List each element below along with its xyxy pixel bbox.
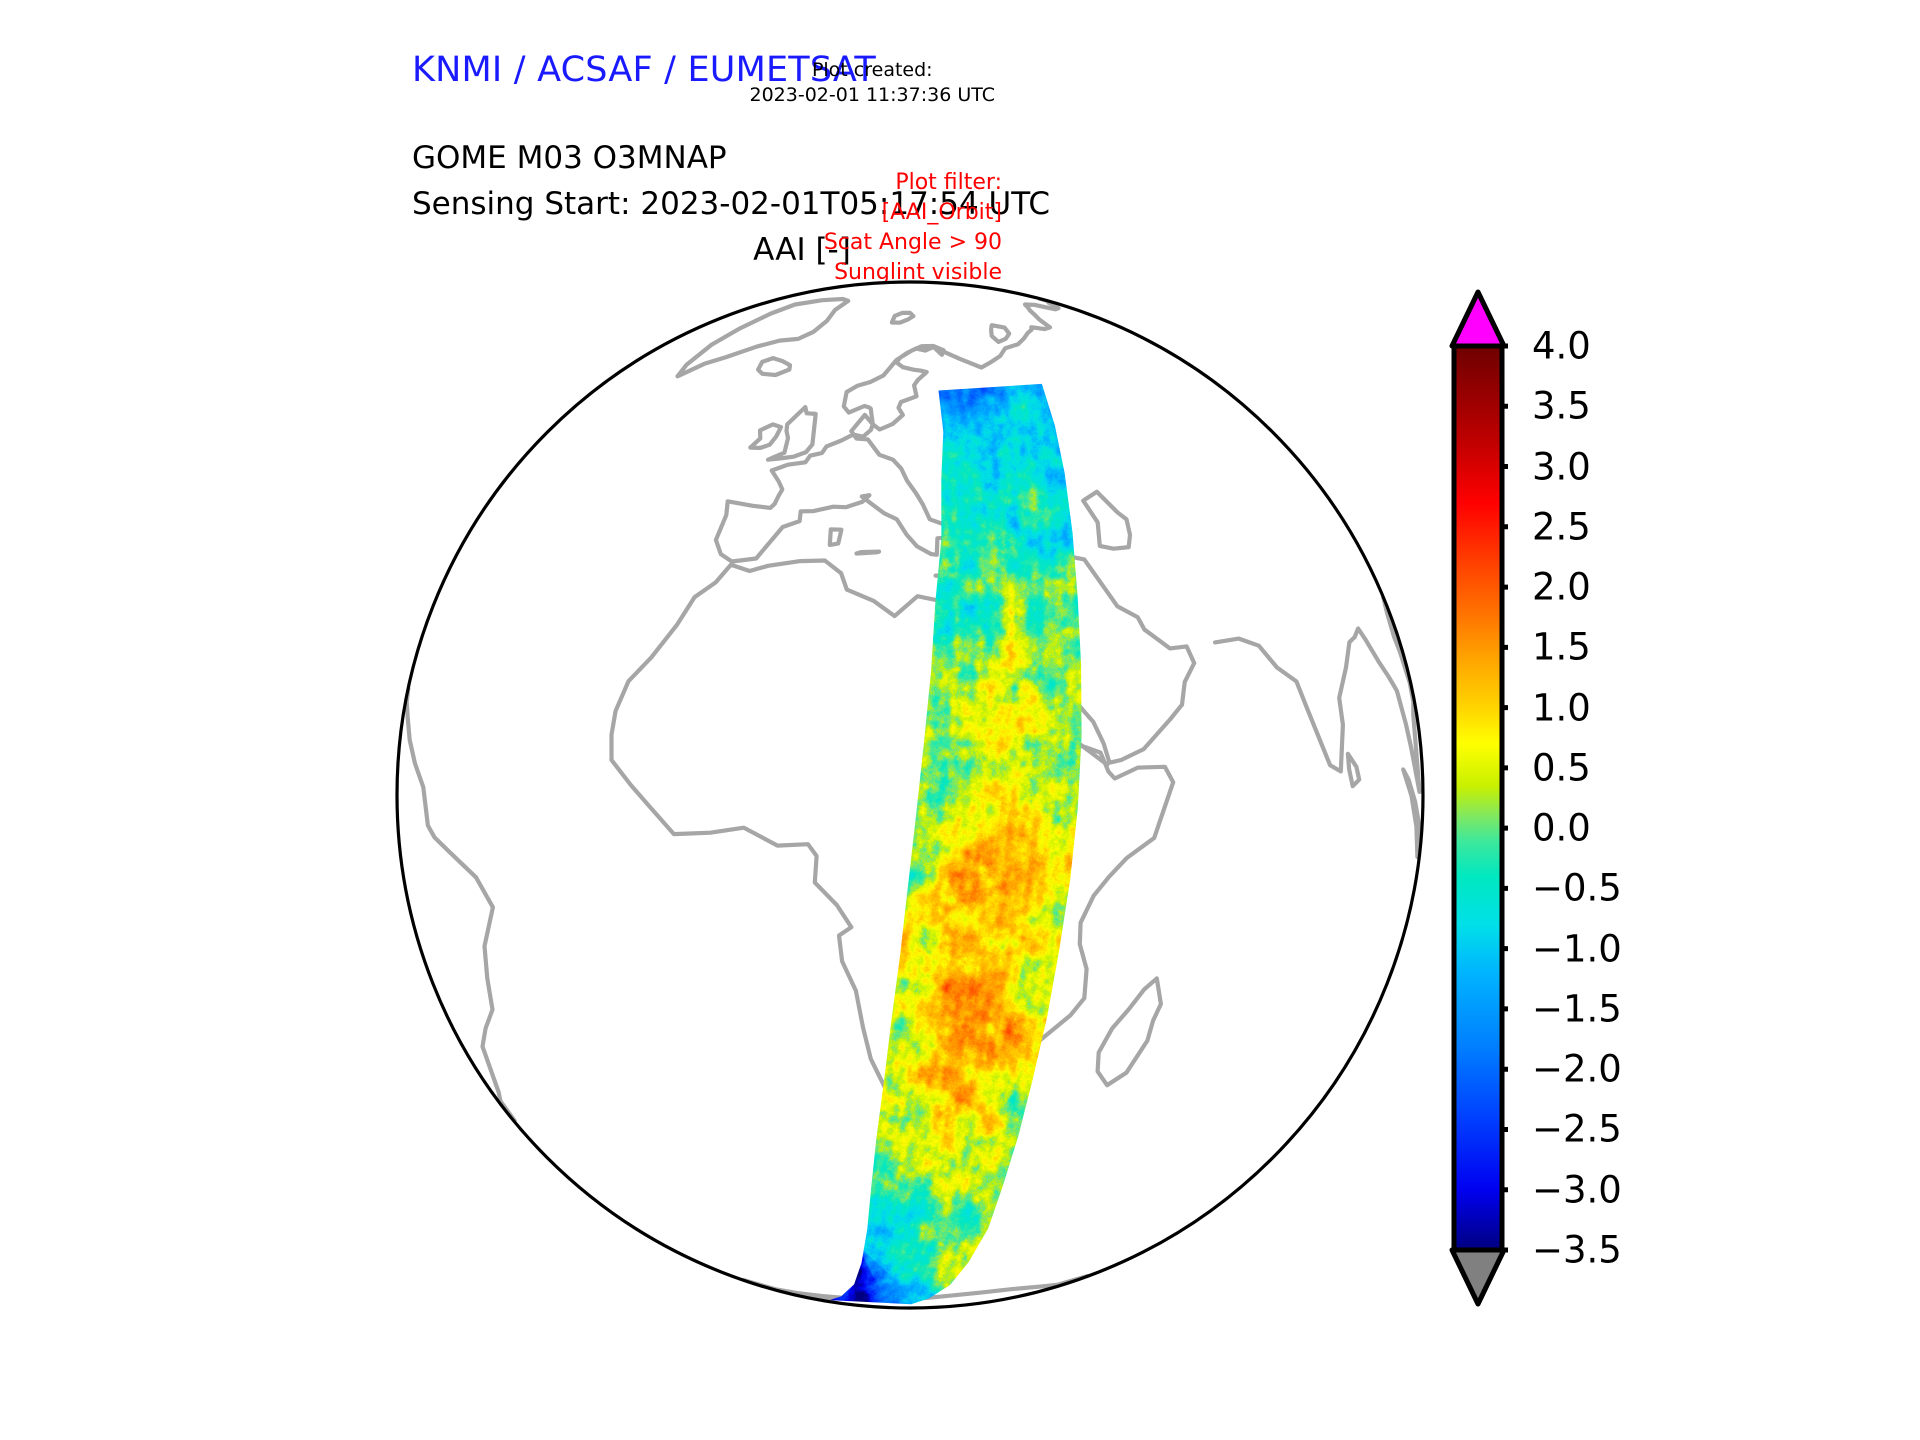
quantity-title: AAI [-]	[412, 232, 1192, 268]
colorbar-tick-label: −1.0	[1532, 930, 1622, 967]
colorbar-tick-label: 0.5	[1532, 749, 1591, 786]
globe-map	[390, 275, 1430, 1315]
colorbar-tick-label: 2.0	[1532, 569, 1591, 606]
colorbar-over-arrow	[1452, 292, 1504, 346]
colorbar-tick-label: 4.0	[1532, 328, 1591, 365]
colorbar-tick-label: −3.0	[1532, 1171, 1622, 1208]
plot-filter-block: Plot filter: [AAI_Orbit] Scat Angle > 90…	[824, 168, 1002, 288]
plot-filter-name: [AAI_Orbit]	[824, 198, 1002, 228]
colorbar	[1448, 288, 1508, 1308]
colorbar-tick-label: 1.5	[1532, 629, 1591, 666]
colorbar-gradient	[1454, 346, 1502, 1250]
product-title: GOME M03 O3MNAP	[412, 140, 727, 176]
colorbar-tick-label: 2.5	[1532, 508, 1591, 545]
colorbar-tick-label: −2.5	[1532, 1111, 1622, 1148]
colorbar-tick-label: −2.0	[1532, 1051, 1622, 1088]
colorbar-tick-label: 0.0	[1532, 810, 1591, 847]
plot-created-block: Plot created: 2023-02-01 11:37:36 UTC	[750, 58, 996, 108]
plot-created-timestamp: 2023-02-01 11:37:36 UTC	[750, 83, 996, 108]
plot-created-label: Plot created:	[750, 58, 996, 83]
colorbar-tick-label: 3.0	[1532, 448, 1591, 485]
plot-filter-title: Plot filter:	[824, 168, 1002, 198]
colorbar-tick-labels: 4.03.53.02.52.01.51.00.50.0−0.5−1.0−1.5−…	[1532, 288, 1682, 1308]
colorbar-tick-label: −3.5	[1532, 1232, 1622, 1269]
colorbar-under-arrow	[1452, 1250, 1504, 1304]
plot-filter-condition: Scat Angle > 90	[824, 228, 1002, 258]
colorbar-svg	[1448, 288, 1508, 1308]
colorbar-tick-label: −0.5	[1532, 870, 1622, 907]
coastline-path	[857, 552, 880, 554]
colorbar-tick-label: −1.5	[1532, 990, 1622, 1027]
colorbar-tick-label: 3.5	[1532, 388, 1591, 425]
orthographic-projection	[390, 275, 1430, 1315]
colorbar-tick-label: 1.0	[1532, 689, 1591, 726]
